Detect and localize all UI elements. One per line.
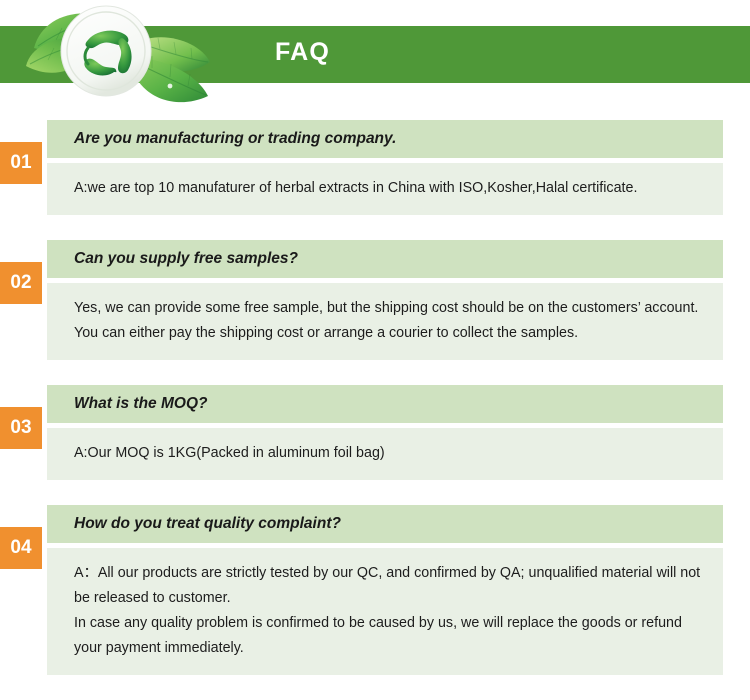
faq-question-bar[interactable]: Can you supply free samples? xyxy=(47,240,723,278)
faq-number-badge: 02 xyxy=(0,262,42,304)
faq-number-badge: 01 xyxy=(0,142,42,184)
faq-question-bar[interactable]: How do you treat quality complaint? xyxy=(47,505,723,543)
company-logo xyxy=(18,0,233,114)
faq-question-text: What is the MOQ? xyxy=(74,395,207,413)
faq-answer-line: A:Our MOQ is 1KG(Packed in aluminum foil… xyxy=(74,441,703,466)
faq-answer-line: A：All our products are strictly tested b… xyxy=(74,561,703,611)
faq-answer-panel: A：All our products are strictly tested b… xyxy=(47,548,723,675)
logo-disc-icon xyxy=(61,6,151,96)
faq-item[interactable]: 03 What is the MOQ? A:Our MOQ is 1KG(Pac… xyxy=(0,385,750,480)
faq-answer-line: In case any quality problem is confirmed… xyxy=(74,611,703,661)
faq-item[interactable]: 04 How do you treat quality complaint? A… xyxy=(0,505,750,675)
faq-question-text: How do you treat quality complaint? xyxy=(74,515,341,533)
page-title: FAQ xyxy=(275,38,330,67)
faq-item[interactable]: 01 Are you manufacturing or trading comp… xyxy=(0,120,750,215)
faq-question-bar[interactable]: What is the MOQ? xyxy=(47,385,723,423)
faq-answer-panel: A:we are top 10 manufaturer of herbal ex… xyxy=(47,163,723,215)
faq-number-badge: 03 xyxy=(0,407,42,449)
faq-question-text: Are you manufacturing or trading company… xyxy=(74,130,396,148)
faq-answer-line: Yes, we can provide some free sample, bu… xyxy=(74,296,703,346)
faq-number-badge: 04 xyxy=(0,527,42,569)
page-header: FAQ xyxy=(0,0,750,120)
faq-answer-panel: A:Our MOQ is 1KG(Packed in aluminum foil… xyxy=(47,428,723,480)
faq-list: 01 Are you manufacturing or trading comp… xyxy=(0,120,750,700)
faq-item[interactable]: 02 Can you supply free samples? Yes, we … xyxy=(0,240,750,360)
faq-question-text: Can you supply free samples? xyxy=(74,250,298,268)
faq-question-bar[interactable]: Are you manufacturing or trading company… xyxy=(47,120,723,158)
faq-answer-line: A:we are top 10 manufaturer of herbal ex… xyxy=(74,176,703,201)
faq-answer-panel: Yes, we can provide some free sample, bu… xyxy=(47,283,723,360)
